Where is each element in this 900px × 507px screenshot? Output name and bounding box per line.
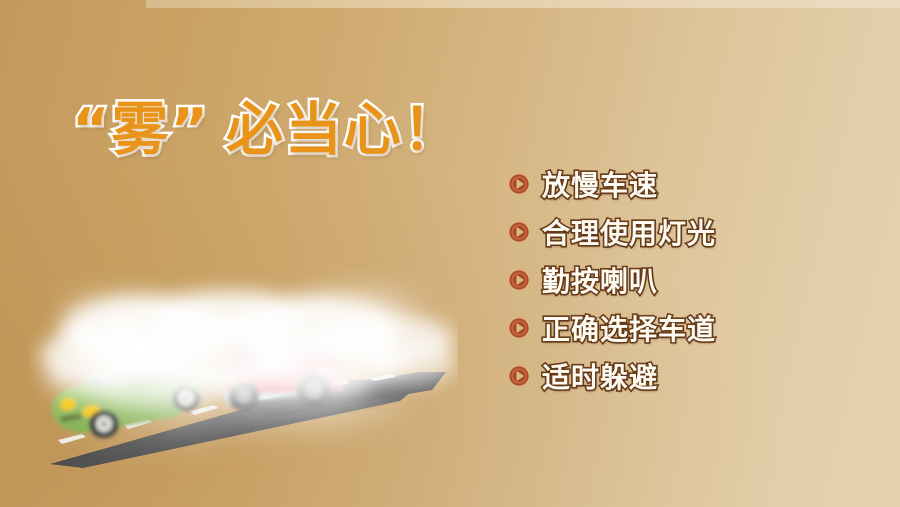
play-circle-bullet-icon (508, 269, 530, 291)
list-item-label: 放慢车速 (542, 164, 658, 204)
play-circle-bullet-icon (508, 173, 530, 195)
fog-driving-illustration (28, 268, 458, 468)
title-keyword: 雾 (111, 97, 170, 163)
list-item[interactable]: 正确选择车道 (508, 304, 888, 352)
title-rest: 必当心！ (226, 97, 462, 163)
tips-list: 放慢车速 合理使用灯光 勤按喇叭 正确选择车道 (508, 160, 888, 400)
play-circle-bullet-icon (508, 221, 530, 243)
list-item[interactable]: 勤按喇叭 (508, 256, 888, 304)
list-item-label: 勤按喇叭 (542, 260, 658, 300)
list-item-label: 正确选择车道 (542, 308, 716, 348)
title-close-quote: ” (170, 97, 209, 163)
play-circle-bullet-icon (508, 317, 530, 339)
top-highlight-band (146, 0, 900, 8)
list-item[interactable]: 放慢车速 (508, 160, 888, 208)
slide-title: “雾”必当心！ (72, 98, 462, 164)
list-item-label: 适时躲避 (542, 356, 658, 396)
list-item[interactable]: 适时躲避 (508, 352, 888, 400)
play-circle-bullet-icon (508, 365, 530, 387)
list-item[interactable]: 合理使用灯光 (508, 208, 888, 256)
title-open-quote: “ (72, 97, 111, 163)
slide-canvas: “雾”必当心！ 放慢车速 合理使用灯光 勤 (0, 0, 900, 507)
list-item-label: 合理使用灯光 (542, 212, 716, 252)
